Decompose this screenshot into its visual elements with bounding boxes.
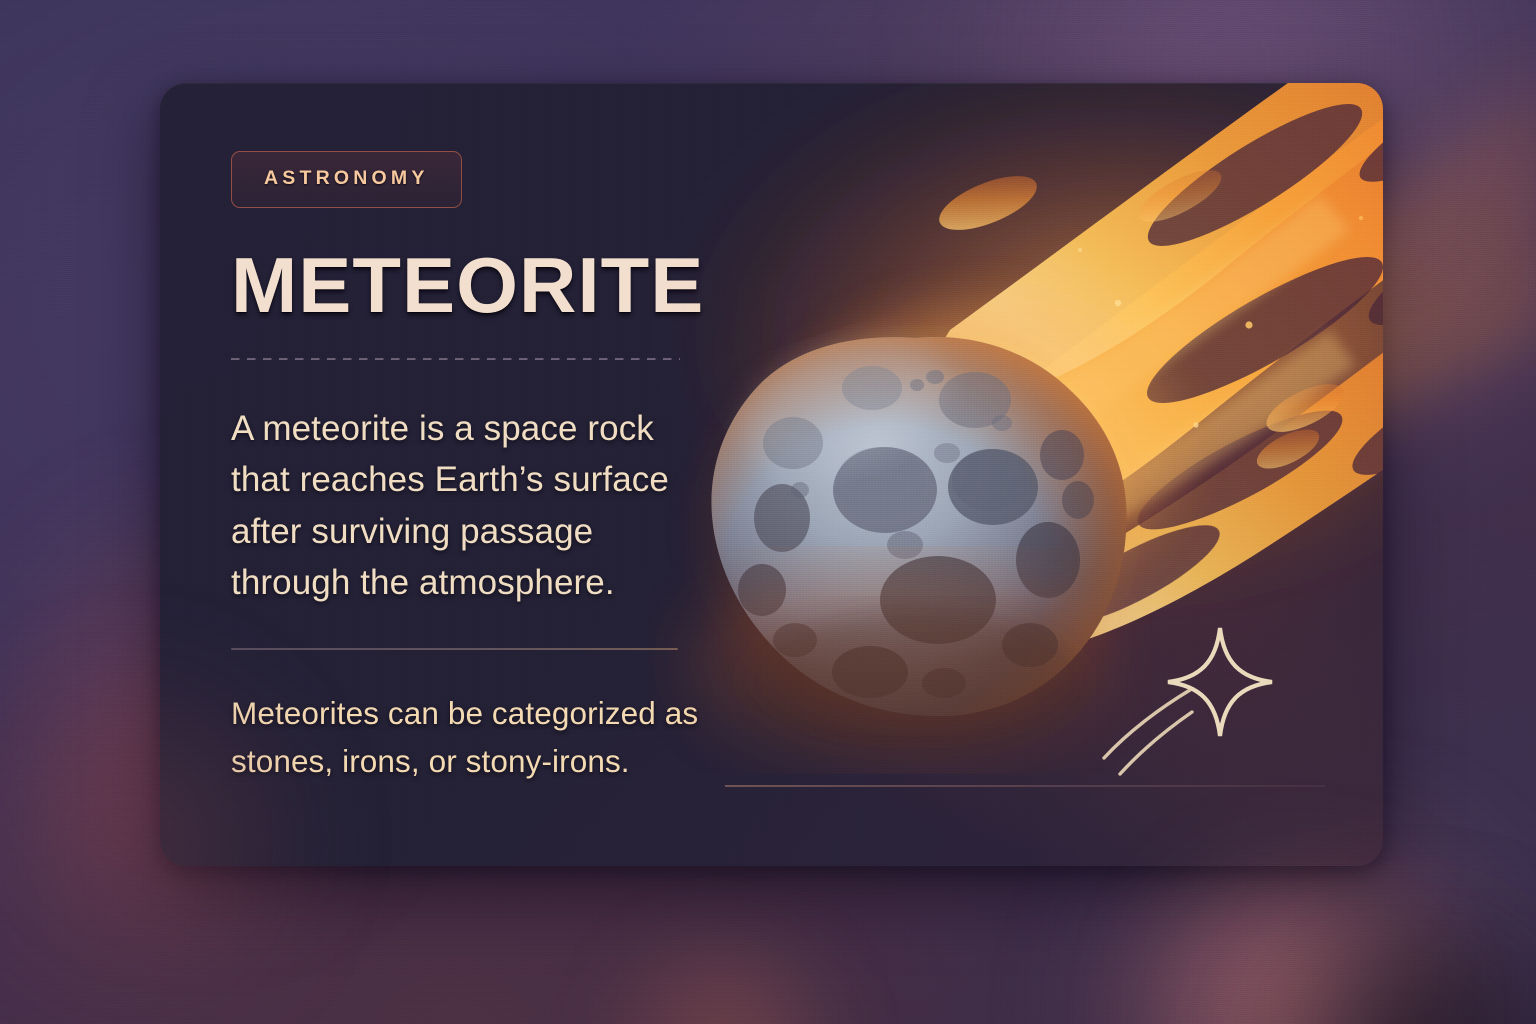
hairline-divider bbox=[725, 785, 1325, 787]
divider-solid bbox=[231, 648, 678, 651]
divider-dashed bbox=[231, 358, 680, 360]
background-glow-ember bbox=[560, 930, 890, 1024]
foreground-bokeh-rose bbox=[1090, 860, 1510, 1024]
background-blur-dark bbox=[1120, 900, 1536, 1024]
category-badge[interactable]: ASTRONOMY bbox=[231, 151, 462, 208]
foreground-bokeh-dark bbox=[1200, 900, 1536, 1024]
fact-text: Meteorites can be categorized as stones,… bbox=[231, 690, 731, 786]
info-card: ASTRONOMY METEORITE A meteorite is a spa… bbox=[160, 83, 1383, 866]
screenshot-stage: ASTRONOMY METEORITE A meteorite is a spa… bbox=[0, 0, 1536, 1024]
card-text-column: ASTRONOMY METEORITE A meteorite is a spa… bbox=[231, 151, 701, 786]
definition-text: A meteorite is a space rock that reaches… bbox=[231, 403, 691, 609]
page-title: METEORITE bbox=[231, 247, 710, 323]
